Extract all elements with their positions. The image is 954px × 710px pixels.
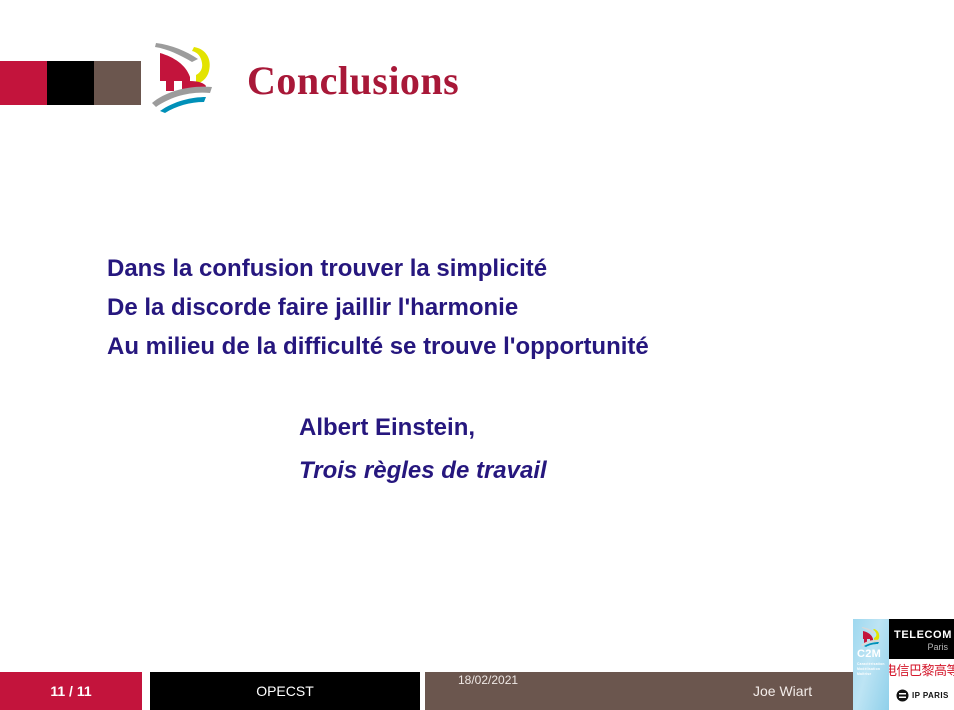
- quote-block: Dans la confusion trouver la simplicité …: [107, 249, 867, 366]
- ip-paris-wordmark: IP PARIS: [912, 691, 949, 700]
- footer-event: OPECST: [150, 672, 420, 710]
- attribution-author: Albert Einstein,: [299, 406, 547, 449]
- c2m-caption-line: Maîtrise: [857, 672, 871, 676]
- footer-author: Joe Wiart: [753, 683, 812, 699]
- telecom-chinese-band: 电信巴黎高等: [889, 659, 954, 680]
- slide-canvas: Conclusions Dans la confusion trouver la…: [0, 0, 954, 710]
- c2m-wordmark: C2M: [857, 648, 881, 660]
- c2m-caption-line: Modélisation: [857, 667, 880, 671]
- attribution-work: Trois règles de travail: [299, 449, 547, 492]
- footer-page-number: 11 / 11: [0, 672, 142, 710]
- c2m-logo: C2M Caractérisation Modélisation Maîtris…: [853, 619, 889, 710]
- quote-line: Dans la confusion trouver la simplicité: [107, 249, 867, 288]
- header-bar-brown: [94, 61, 141, 105]
- footer-logo-block: C2M Caractérisation Modélisation Maîtris…: [853, 619, 954, 710]
- attribution-block: Albert Einstein, Trois règles de travail: [299, 406, 547, 492]
- chair-logo-icon: [146, 29, 218, 117]
- footer-event-label: OPECST: [256, 683, 314, 699]
- telecom-paris-sub: Paris: [927, 642, 948, 652]
- quote-line: Au milieu de la difficulté se trouve l'o…: [107, 327, 867, 366]
- footer-date: 18/02/2021: [458, 673, 518, 687]
- quote-line: De la discorde faire jaillir l'harmonie: [107, 288, 867, 327]
- page-title: Conclusions: [247, 57, 459, 104]
- c2m-caption-line: Caractérisation: [857, 662, 885, 666]
- telecom-paris-logo-stack: TELECOM Paris 电信巴黎高等 IP PARIS: [889, 619, 954, 710]
- ip-paris-circle-mark-icon: [896, 689, 909, 702]
- header-bar-crimson: [0, 61, 47, 105]
- footer-page-label: 11 / 11: [50, 683, 91, 699]
- c2m-bird-emblem-icon: [859, 623, 881, 647]
- ip-paris-logo: IP PARIS: [889, 680, 954, 710]
- telecom-wordmark: TELECOM: [894, 629, 952, 641]
- telecom-paris-logo: TELECOM Paris: [889, 619, 954, 659]
- header-bar-black: [47, 61, 94, 105]
